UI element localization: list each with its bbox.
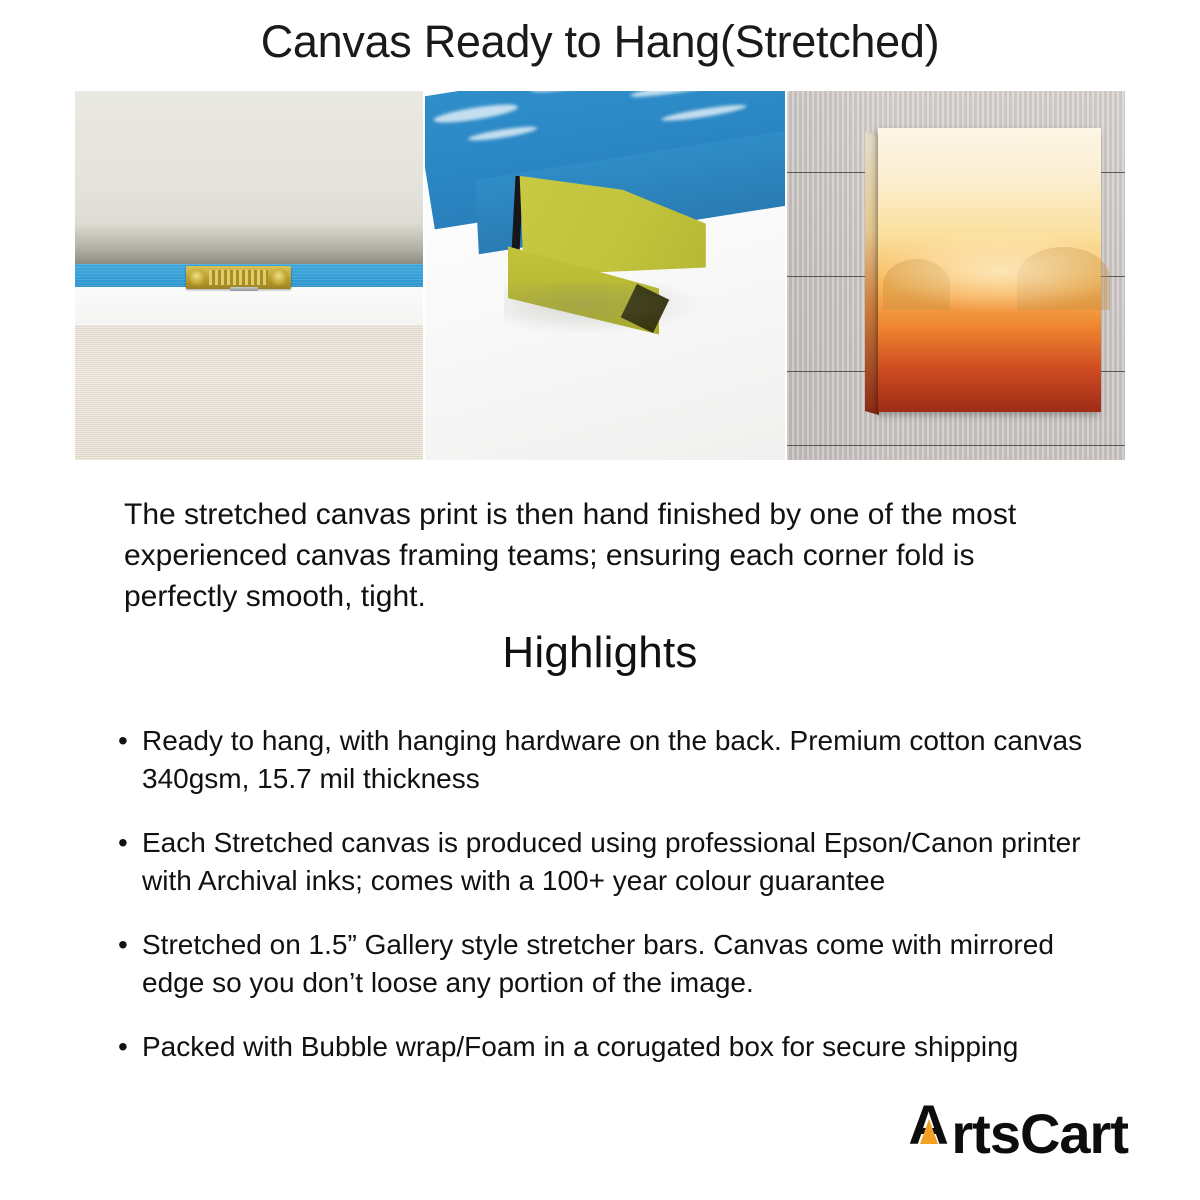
list-item-text: Ready to hang, with hanging hardware on … (142, 725, 1082, 794)
bullet-marker-icon: • (118, 722, 128, 760)
drop-shadow (504, 283, 702, 335)
list-item: • Packed with Bubble wrap/Foam in a coru… (110, 1028, 1120, 1066)
logo-triangle-icon (920, 1119, 938, 1144)
brand-logo: A rtsCart (908, 1097, 1128, 1166)
gallery-image-corner-fold-detail (425, 91, 785, 460)
bullet-marker-icon: • (118, 1028, 128, 1066)
bullet-marker-icon: • (118, 824, 128, 862)
list-item: • Stretched on 1.5” Gallery style stretc… (110, 926, 1120, 1002)
hanger-teeth (209, 270, 267, 284)
logo-letter-a: A (908, 1097, 950, 1153)
list-item-text: Each Stretched canvas is produced using … (142, 827, 1081, 896)
gallery-image-canvas-on-wall (787, 91, 1125, 460)
cloud-wisp (467, 125, 537, 144)
canvas-cotton-back (75, 325, 423, 460)
wall-nail (230, 287, 258, 292)
cloud-wisp (432, 101, 518, 126)
hanger-screw-left (189, 269, 206, 286)
plank-seam (787, 445, 1125, 446)
logo-wordmark: rtsCart (951, 1101, 1128, 1166)
highlights-heading: Highlights (0, 628, 1200, 678)
page-title: Canvas Ready to Hang(Stretched) (0, 16, 1200, 68)
cloud-wisp (530, 91, 631, 96)
list-item: • Ready to hang, with hanging hardware o… (110, 722, 1120, 798)
canvas-white-band (75, 287, 423, 328)
cloud-wisp (630, 91, 747, 100)
gallery-image-canvas-back-hanger (75, 91, 423, 460)
cloud-wisp (661, 102, 747, 123)
list-item-text: Packed with Bubble wrap/Foam in a coruga… (142, 1031, 1018, 1062)
list-item: • Each Stretched canvas is produced usin… (110, 824, 1120, 900)
product-image-gallery (75, 91, 1125, 460)
list-item-text: Stretched on 1.5” Gallery style stretche… (142, 929, 1054, 998)
highlights-list: • Ready to hang, with hanging hardware o… (110, 722, 1120, 1066)
hanger-screw-right (271, 269, 288, 286)
product-info-graphic: Canvas Ready to Hang(Stretched) (0, 0, 1200, 1200)
product-description: The stretched canvas print is then hand … (124, 494, 1084, 617)
sawtooth-hanger-icon (186, 266, 290, 289)
bullet-marker-icon: • (118, 926, 128, 964)
sun-glow (878, 231, 1101, 312)
